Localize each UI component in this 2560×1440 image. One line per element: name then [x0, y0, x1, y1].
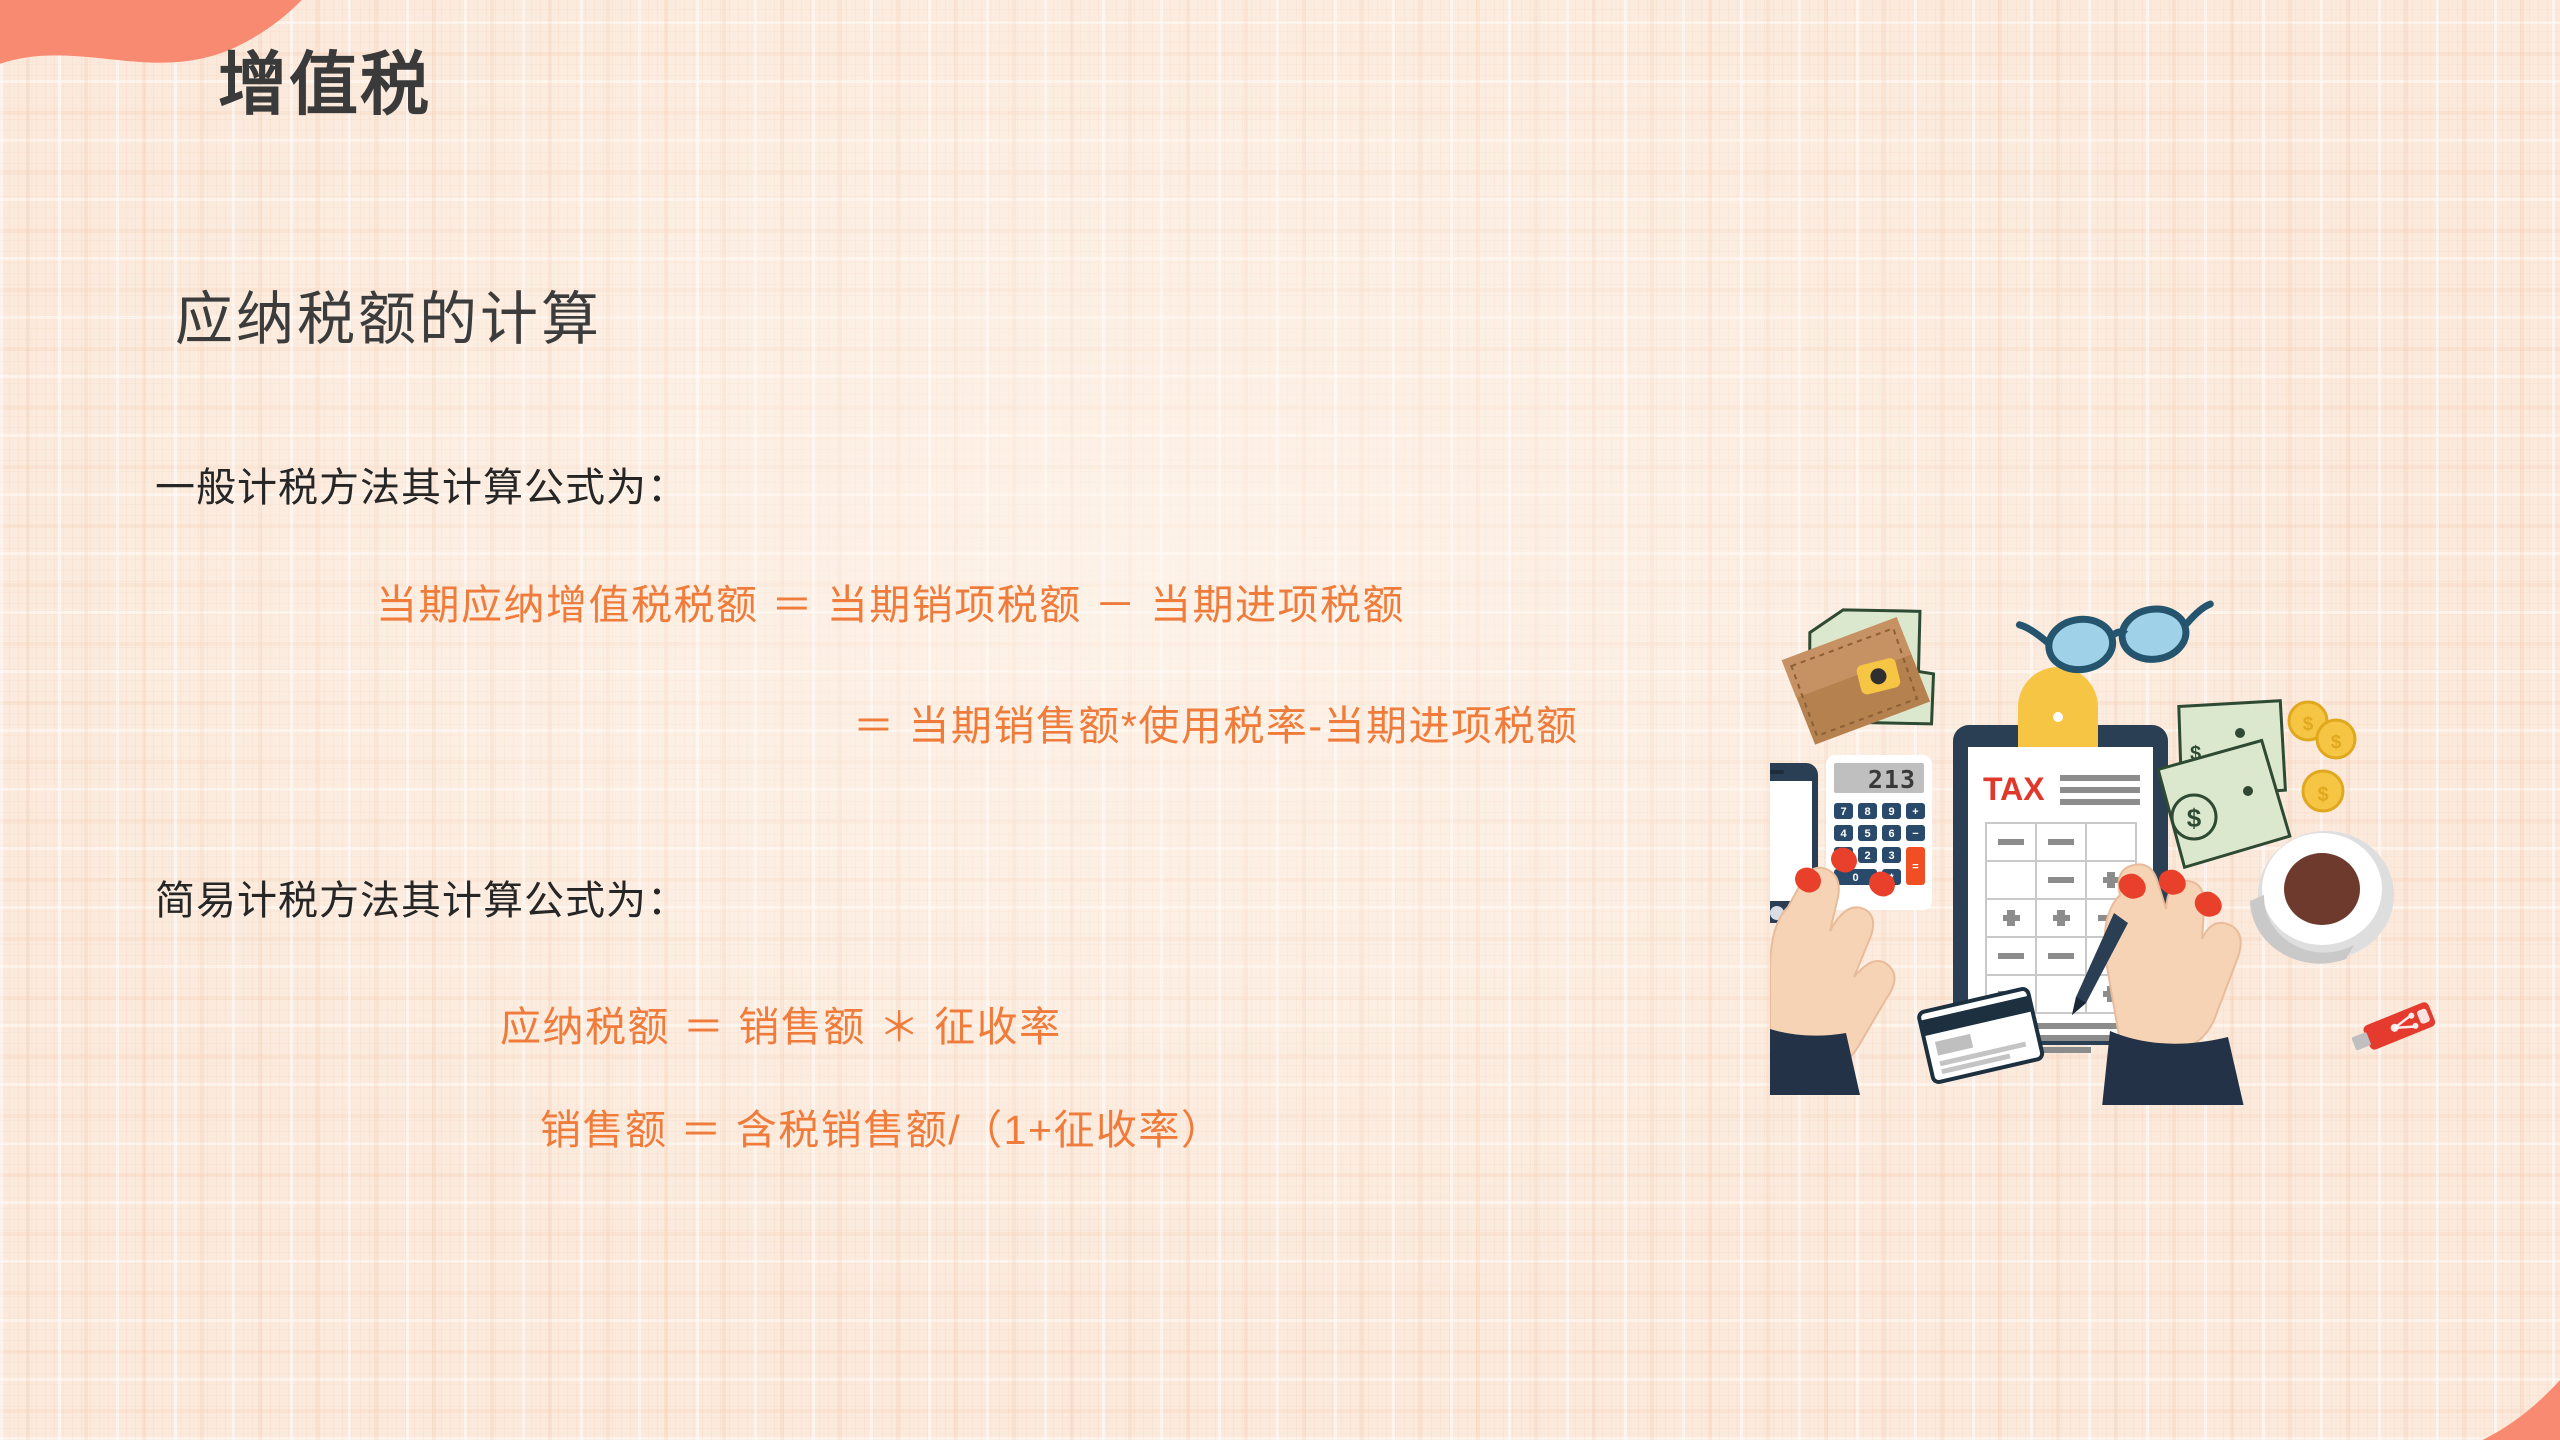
calculator-display-value: 213	[1868, 765, 1916, 794]
lead-text-simple-method: 简易计税方法其计算公式为：	[155, 868, 688, 926]
formula-simple-line-1: 应纳税额 ＝ 销售额 ＊ 征收率	[500, 993, 1062, 1053]
svg-text:4: 4	[1840, 828, 1847, 840]
slide-root: 增值税 应纳税额的计算 一般计税方法其计算公式为： 当期应纳增值税税额 ＝ 当期…	[0, 0, 2560, 1440]
tax-desk-illustration: $ 213 7 8	[1770, 595, 2470, 1105]
corner-blob-bottom-right-icon	[2090, 1240, 2560, 1440]
formula-simple-line-2: 销售额 ＝ 含税销售额/（1+征收率）	[540, 1096, 1223, 1156]
page-title: 增值税	[218, 28, 431, 128]
svg-text:$: $	[2331, 732, 2342, 753]
svg-text:+: +	[1912, 806, 1918, 818]
eyeglasses-icon	[2019, 598, 2217, 677]
tax-form-label: TAX	[1983, 771, 2045, 807]
coin-dollar-symbol: $	[2317, 784, 2328, 806]
svg-text:2: 2	[1864, 850, 1870, 862]
svg-text:−: −	[1912, 828, 1918, 840]
svg-text:3: 3	[1888, 850, 1894, 862]
bill-dollar-symbol: $	[2187, 803, 2202, 833]
formula-general-line-1: 当期应纳增值税税额 ＝ 当期销项税额 － 当期进项税额	[376, 571, 1405, 631]
coffee-cup-icon	[2250, 831, 2394, 964]
credit-card-icon	[1918, 988, 2043, 1083]
svg-text:5: 5	[1864, 828, 1870, 840]
formula-general-line-2: ＝ 当期销售额*使用税率-当期进项税额	[853, 692, 1579, 752]
usb-drive-icon	[2349, 1001, 2437, 1057]
svg-text:9: 9	[1888, 806, 1894, 818]
svg-text:8: 8	[1864, 806, 1870, 818]
wallet-icon: $	[1773, 595, 1947, 755]
dollar-bills-icon: $ $	[2156, 689, 2296, 869]
coins-icon: $ $ $	[2289, 702, 2355, 811]
svg-text:6: 6	[1888, 828, 1894, 840]
lead-text-general-method: 一般计税方法其计算公式为：	[155, 455, 688, 513]
svg-text:$: $	[2303, 714, 2314, 735]
svg-text:=: =	[1912, 861, 1918, 873]
tax-desk-illustration-svg: $ 213 7 8	[1770, 595, 2470, 1105]
svg-text:0: 0	[1852, 872, 1858, 884]
section-subtitle: 应纳税额的计算	[175, 272, 602, 356]
svg-text:7: 7	[1840, 806, 1846, 818]
